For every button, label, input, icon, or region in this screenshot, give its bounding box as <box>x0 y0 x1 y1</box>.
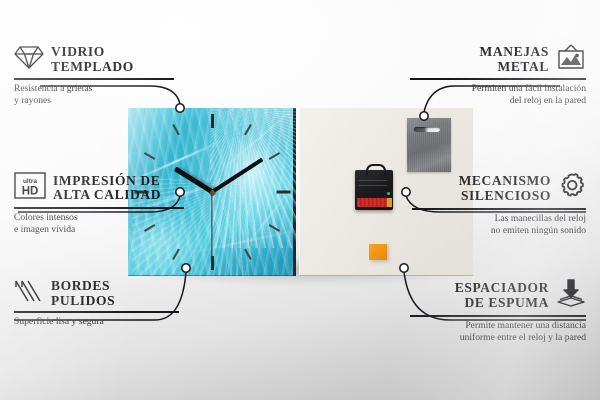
callout-rule <box>14 207 184 209</box>
hour-marker <box>276 191 290 194</box>
mechanism-detail-line <box>359 180 387 181</box>
hour-marker <box>144 152 155 160</box>
mechanism-detail-line <box>359 185 387 186</box>
infographic-canvas: VIDRIO TEMPLADO Resistencia a grietas y … <box>0 0 600 400</box>
callout-subtitle: Permiten una fácil instalación del reloj… <box>410 83 586 108</box>
hour-marker <box>211 114 214 128</box>
title-line-1: BORDES <box>51 279 115 293</box>
clock-center-pivot <box>210 190 215 195</box>
title-line-1: IMPRESIÓN DE <box>53 174 161 188</box>
callout-title: ESPACIADOR DE ESPUMA <box>455 281 549 309</box>
callout-mecanismo-silencioso: MECANISMO SILENCIOSO Las manecillas del … <box>412 172 586 238</box>
metal-hanger-plate <box>407 118 451 172</box>
callout-bordes-pulidos: BORDES PULIDOS Superficie lisa y segura <box>14 279 179 328</box>
title-line-2: DE ESPUMA <box>464 296 549 310</box>
callout-title: IMPRESIÓN DE ALTA CALIDAD <box>53 174 161 202</box>
ultra-hd-icon: ultra HD <box>14 172 46 204</box>
title-line-1: MECANISMO <box>459 174 551 188</box>
callout-rule <box>14 78 174 80</box>
battery-terminal <box>387 198 392 207</box>
callout-impresion-alta-calidad: ultra HD IMPRESIÓN DE ALTA CALIDAD Color… <box>14 172 184 237</box>
callout-manejas-metal: MANEJAS METAL Permiten una fácil instala… <box>410 44 586 108</box>
picture-frame-icon <box>556 44 586 75</box>
callout-vidrio-templado: VIDRIO TEMPLADO Resistencia a grietas y … <box>14 44 174 108</box>
title-line-1: ESPACIADOR <box>455 281 549 295</box>
down-arrow-stack-icon <box>556 279 586 312</box>
diamond-icon <box>14 44 44 75</box>
callout-rule <box>410 315 586 317</box>
ultra-hd-icon-bottom: HD <box>22 186 39 198</box>
foam-spacer-pad <box>369 244 387 260</box>
hanger-keyhole-slot <box>414 127 440 132</box>
callout-subtitle: Permite mantener una distancia uniforme … <box>410 320 586 345</box>
diagonal-lines-icon <box>14 279 44 308</box>
callout-title: MECANISMO SILENCIOSO <box>459 174 551 202</box>
callout-subtitle: Colores intensos e imagen vívida <box>14 212 184 237</box>
callout-title: MANEJAS METAL <box>480 45 549 73</box>
callout-subtitle: Superficie lisa y segura <box>14 316 179 329</box>
callout-rule <box>14 311 179 313</box>
callout-title: VIDRIO TEMPLADO <box>51 45 134 73</box>
mechanism-indicator-dot <box>387 192 390 195</box>
callout-espaciador-espuma: ESPACIADOR DE ESPUMA Permite mantener un… <box>410 279 586 345</box>
gear-icon <box>558 172 586 205</box>
ultra-hd-icon-top: ultra <box>23 178 37 185</box>
title-line-2: PULIDOS <box>51 294 115 308</box>
callout-rule <box>412 208 586 210</box>
title-line-1: VIDRIO <box>51 45 134 59</box>
title-line-2: TEMPLADO <box>51 60 134 74</box>
callout-subtitle: Las manecillas del reloj no emiten ningú… <box>412 213 586 238</box>
callout-subtitle: Resistencia a grietas y rayones <box>14 83 174 108</box>
hour-marker <box>211 256 214 270</box>
hour-marker <box>172 124 180 135</box>
callout-rule <box>410 78 586 80</box>
hanger-loop <box>366 164 386 176</box>
title-line-1: MANEJAS <box>480 45 549 59</box>
callout-title: BORDES PULIDOS <box>51 279 115 307</box>
battery-strip <box>357 198 391 207</box>
clock-mechanism-box <box>355 170 393 210</box>
title-line-2: METAL <box>497 60 549 74</box>
title-line-2: ALTA CALIDAD <box>53 188 161 202</box>
title-line-2: SILENCIOSO <box>461 189 551 203</box>
